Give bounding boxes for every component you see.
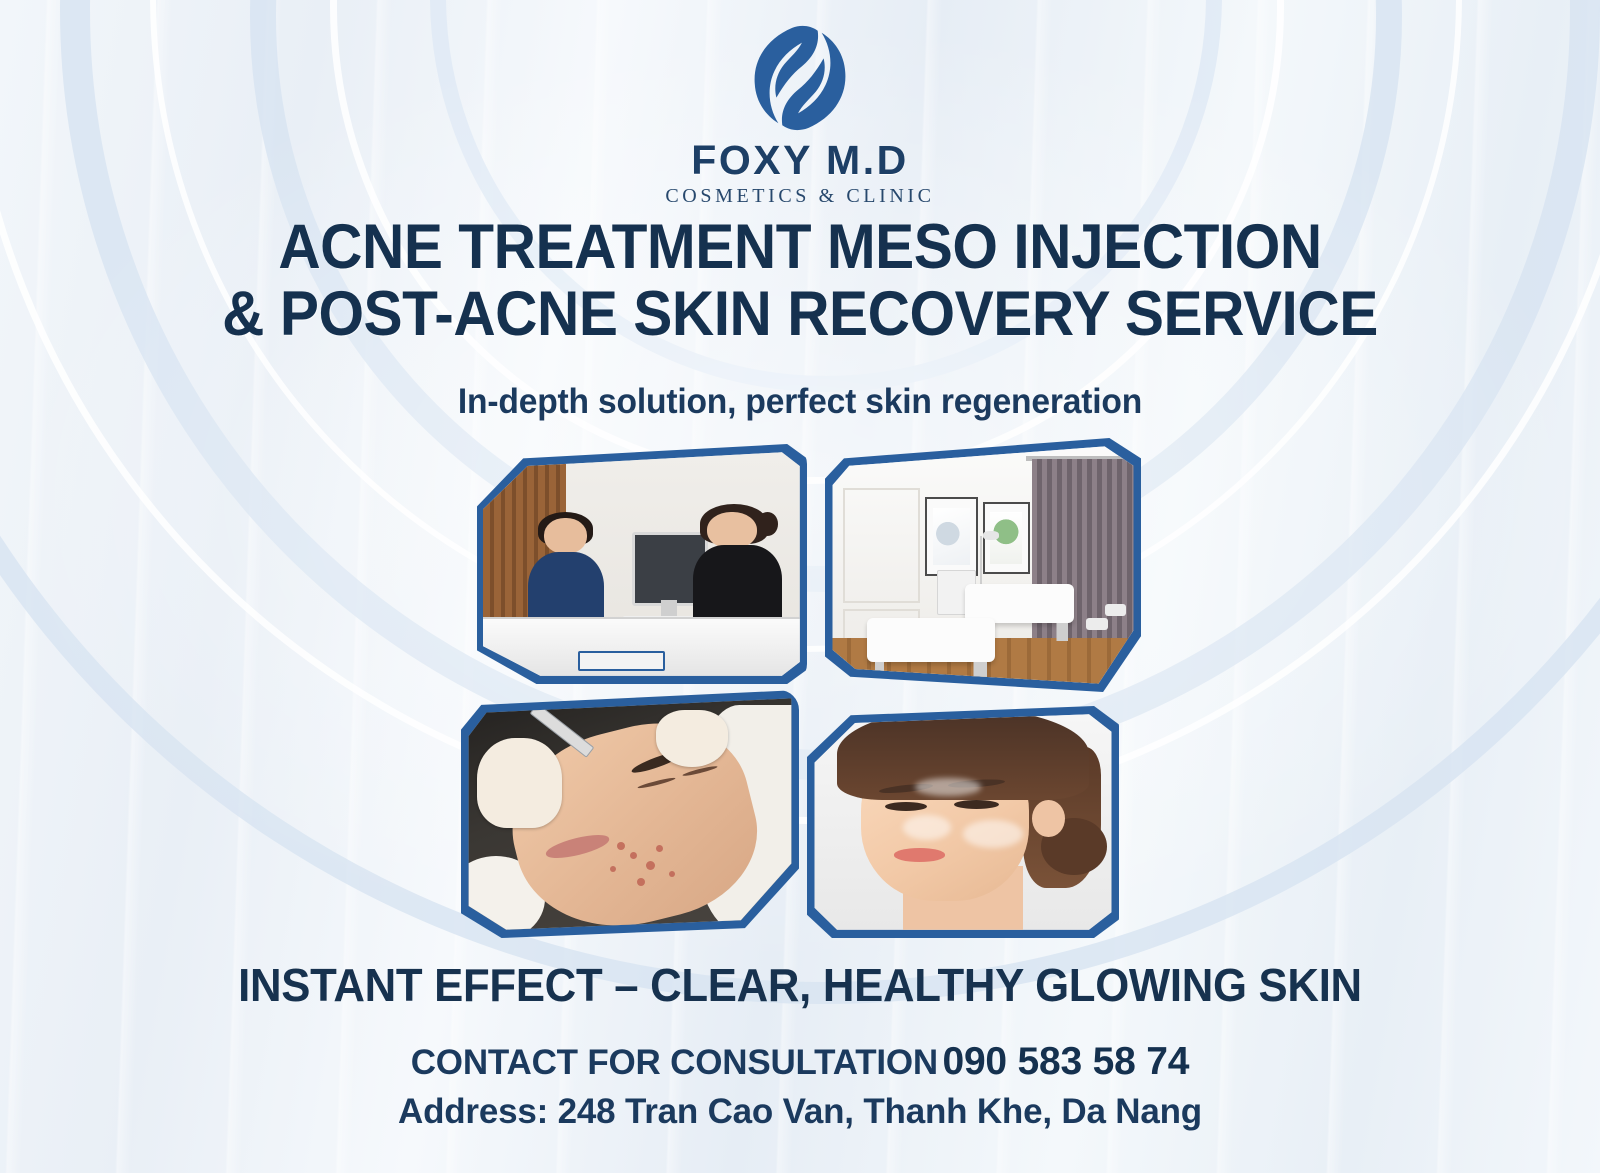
brand-name: FOXY M.D bbox=[691, 140, 908, 181]
brand-logo-block: FOXY M.D COSMETICS & CLINIC bbox=[0, 22, 1600, 206]
photo-consultation bbox=[483, 450, 801, 678]
collage-tile-treatment-room bbox=[825, 438, 1141, 692]
twin-leaf-emblem-icon bbox=[741, 22, 859, 134]
contact-address: Address: 248 Tran Cao Van, Thanh Khe, Da… bbox=[0, 1092, 1600, 1132]
brand-tagline: COSMETICS & CLINIC bbox=[665, 186, 934, 206]
photo-result-portrait bbox=[813, 712, 1113, 932]
promo-banner: INSTANT EFFECT – CLEAR, HEALTHY GLOWING … bbox=[40, 958, 1560, 1012]
contact-phone[interactable]: 090 583 58 74 bbox=[942, 1040, 1189, 1083]
headline-line-1: ACNE TREATMENT MESO INJECTION bbox=[56, 214, 1544, 281]
collage-tile-meso-injection bbox=[461, 690, 799, 938]
photo-treatment-room bbox=[831, 444, 1135, 686]
collage-tile-consultation bbox=[477, 444, 807, 684]
contact-label: CONTACT FOR CONSULTATION bbox=[411, 1043, 938, 1082]
headline-line-2: & POST-ACNE SKIN RECOVERY SERVICE bbox=[56, 281, 1544, 348]
collage-tile-result-portrait bbox=[807, 706, 1119, 938]
page-subtitle: In-depth solution, perfect skin regenera… bbox=[32, 382, 1568, 422]
page-headline: ACNE TREATMENT MESO INJECTION & POST-ACN… bbox=[0, 214, 1600, 348]
contact-line: CONTACT FOR CONSULTATION 090 583 58 74 bbox=[0, 1040, 1600, 1084]
photo-meso-injection bbox=[467, 696, 793, 932]
photo-collage bbox=[455, 438, 1145, 938]
